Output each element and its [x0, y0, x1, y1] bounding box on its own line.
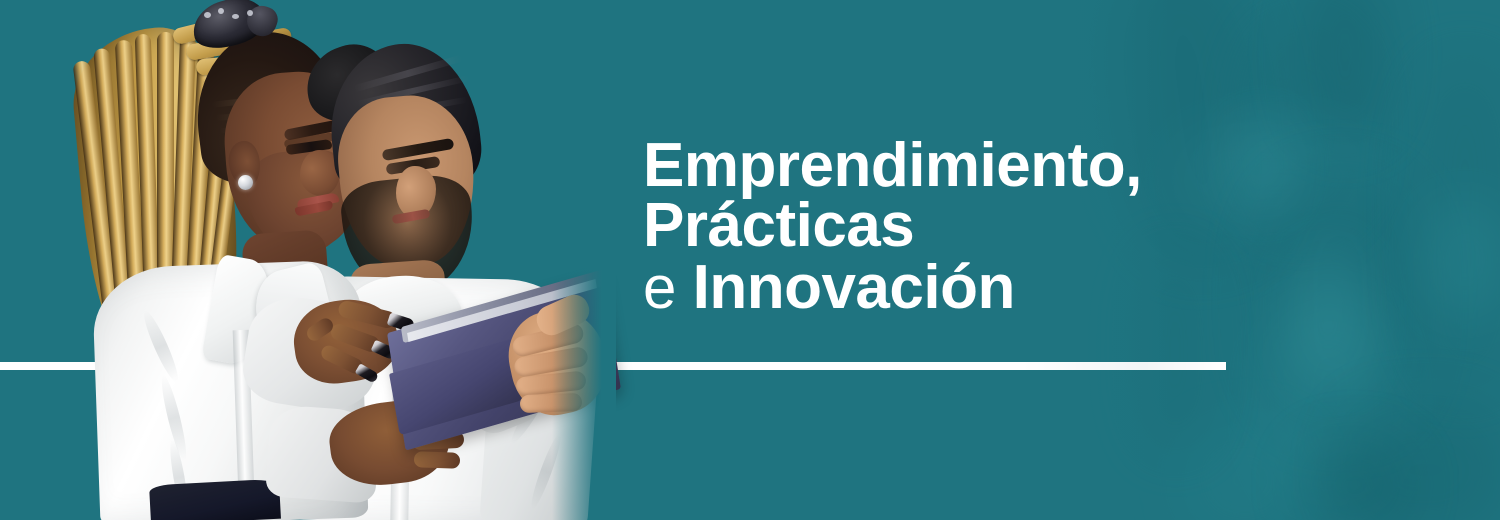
- photo-edge-fade: [552, 0, 616, 520]
- divider-right-segment: [548, 362, 1226, 370]
- page-title: Emprendimiento, Prácticas e Innovación: [643, 136, 1263, 318]
- headline-line-3-bold: Innovación: [676, 253, 1015, 322]
- headline-conjunction: e: [643, 254, 676, 321]
- people-photo-cutout: [0, 0, 600, 520]
- hero-banner: Emprendimiento, Prácticas e Innovación: [0, 0, 1500, 520]
- headline-line-3: e Innovación: [643, 258, 1263, 318]
- woman-dark-trousers: [149, 479, 281, 520]
- woman-earring: [238, 175, 253, 190]
- headline-line-1: Emprendimiento,: [643, 136, 1263, 196]
- headline-line-2: Prácticas: [643, 196, 1263, 256]
